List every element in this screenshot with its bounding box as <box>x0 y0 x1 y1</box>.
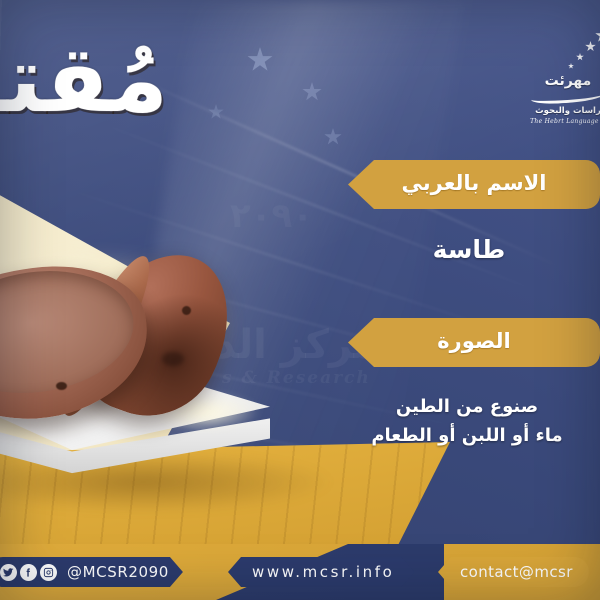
logo-latin-name: The Hebrt Language C <box>522 118 600 125</box>
field-description-line-2: ماء أو اللبن أو الطعام <box>338 422 600 449</box>
logo-wordmark: مهرئت <box>522 74 600 88</box>
clay-bowl-blemish <box>182 306 191 315</box>
logo-star-icon <box>568 63 574 69</box>
clay-bowl-blemish <box>162 352 184 366</box>
twitter-icon[interactable] <box>0 564 17 581</box>
organization-logo: مهرئت راسات والبحوث The Hebrt Language C <box>522 32 600 130</box>
field-value-name: طاسة <box>338 235 600 264</box>
field-label-image: الصورة <box>348 318 600 367</box>
website-text: www.mcsr.info <box>252 563 394 581</box>
email-chip[interactable]: contact@mcsr <box>438 557 589 587</box>
field-label-name: الاسم بالعربي <box>348 160 600 209</box>
social-handle-text: @MCSR2090 <box>67 563 169 581</box>
footer-bar: @MCSR2090 www.mcsr.info contact@mcsr <box>0 544 600 600</box>
logo-subtitle: راسات والبحوث <box>522 106 600 116</box>
field-name-arabic: الاسم بالعربي طاسة <box>338 160 600 264</box>
artifact-card: ٢٠٩٠ مركز الد s & Research مُقتـ مهرئت ر… <box>0 0 600 600</box>
field-image-description: الصورة صنوع من الطين ماء أو اللبن أو الط… <box>338 318 600 449</box>
logo-star-icon <box>585 41 596 52</box>
facebook-icon[interactable] <box>20 564 37 581</box>
instagram-icon[interactable] <box>40 564 57 581</box>
page-title: مُقتـ <box>0 34 168 126</box>
social-handle-chip[interactable]: @MCSR2090 <box>0 557 183 587</box>
email-text: contact@mcsr <box>460 563 573 581</box>
website-chip[interactable]: www.mcsr.info <box>228 557 414 587</box>
logo-star-cluster <box>522 32 600 74</box>
clay-bowl-blemish <box>56 382 67 390</box>
field-description-line-1: صنوع من الطين <box>338 393 600 420</box>
logo-star-icon <box>576 53 584 61</box>
logo-swoosh-icon <box>531 88 600 105</box>
